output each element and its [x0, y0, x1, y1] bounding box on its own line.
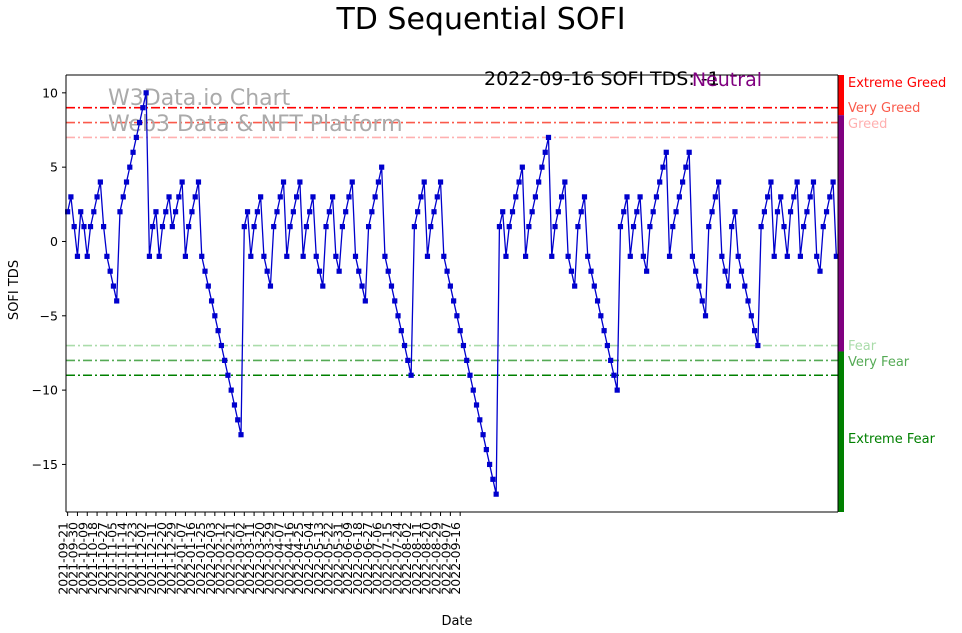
data-point-marker [804, 209, 809, 214]
data-point-marker [696, 283, 701, 288]
data-point-marker [559, 194, 564, 199]
data-point-marker [768, 179, 773, 184]
data-point-marker [824, 209, 829, 214]
data-point-marker [209, 298, 214, 303]
data-point-marker [539, 165, 544, 170]
data-point-marker [199, 254, 204, 259]
data-point-marker [719, 254, 724, 259]
data-point-marker [713, 194, 718, 199]
data-point-marker [245, 209, 250, 214]
data-point-marker [598, 313, 603, 318]
data-point-marker [726, 283, 731, 288]
data-point-marker [333, 254, 338, 259]
data-point-marker [356, 269, 361, 274]
data-point-marker [248, 254, 253, 259]
data-point-marker [379, 165, 384, 170]
data-point-marker [261, 254, 266, 259]
data-point-marker [752, 328, 757, 333]
data-point-marker [291, 209, 296, 214]
data-point-marker [647, 224, 652, 229]
data-point-marker [399, 328, 404, 333]
data-point-marker [660, 165, 665, 170]
data-point-marker [346, 194, 351, 199]
data-series-sofi-tds [65, 90, 839, 497]
data-point-marker [392, 298, 397, 303]
data-point-marker [814, 254, 819, 259]
data-point-marker [170, 224, 175, 229]
data-point-marker [484, 447, 489, 452]
data-point-marker [716, 179, 721, 184]
data-point-marker [530, 209, 535, 214]
data-point-marker [546, 135, 551, 140]
data-point-marker [562, 179, 567, 184]
data-point-marker [454, 313, 459, 318]
data-point-marker [785, 254, 790, 259]
neutral-bar [838, 115, 844, 351]
data-point-marker [464, 358, 469, 363]
x-axis-label: Date [441, 614, 472, 629]
data-point-marker [543, 150, 548, 155]
data-point-marker [307, 209, 312, 214]
data-point-marker [284, 254, 289, 259]
data-point-marker [552, 224, 557, 229]
data-point-marker [513, 194, 518, 199]
data-point-marker [144, 90, 149, 95]
data-point-marker [781, 224, 786, 229]
data-point-marker [742, 283, 747, 288]
data-point-marker [216, 328, 221, 333]
data-point-marker [507, 224, 512, 229]
data-point-marker [765, 194, 770, 199]
data-point-marker [431, 209, 436, 214]
data-point-marker [435, 194, 440, 199]
data-point-marker [739, 269, 744, 274]
data-point-marker [644, 269, 649, 274]
extreme-fear-bar [838, 351, 844, 512]
data-point-marker [366, 224, 371, 229]
data-point-marker [628, 254, 633, 259]
data-point-marker [693, 269, 698, 274]
y-tick-label: −10 [32, 383, 58, 398]
data-point-marker [657, 179, 662, 184]
data-point-marker [605, 343, 610, 348]
data-point-marker [624, 194, 629, 199]
data-point-marker [337, 269, 342, 274]
data-point-marker [709, 209, 714, 214]
data-point-marker [147, 254, 152, 259]
data-point-marker [373, 194, 378, 199]
data-point-marker [680, 179, 685, 184]
data-point-marker [795, 179, 800, 184]
y-axis-label: SOFI TDS [7, 260, 22, 320]
data-point-marker [287, 224, 292, 229]
data-point-marker [320, 283, 325, 288]
extreme-greed-bar [838, 75, 844, 115]
y-tick-label: 0 [50, 234, 58, 249]
data-point-marker [579, 209, 584, 214]
data-point-marker [409, 373, 414, 378]
data-point-marker [670, 224, 675, 229]
data-point-marker [425, 254, 430, 259]
data-point-marker [477, 417, 482, 422]
data-point-marker [251, 224, 256, 229]
zone-reference-lines [66, 108, 838, 376]
data-point-marker [487, 462, 492, 467]
data-point-marker [615, 388, 620, 393]
data-point-marker [700, 298, 705, 303]
data-point-marker [163, 209, 168, 214]
data-point-marker [193, 194, 198, 199]
data-point-marker [140, 105, 145, 110]
data-point-marker [830, 179, 835, 184]
data-point-marker [81, 224, 86, 229]
data-point-marker [618, 224, 623, 229]
data-point-marker [706, 224, 711, 229]
data-point-marker [673, 209, 678, 214]
data-point-marker [634, 209, 639, 214]
data-point-marker [775, 209, 780, 214]
data-point-marker [242, 224, 247, 229]
data-point-marker [438, 179, 443, 184]
data-point-marker [526, 224, 531, 229]
data-point-marker [595, 298, 600, 303]
data-point-marker [556, 209, 561, 214]
y-tick-label: 10 [42, 85, 58, 100]
data-point-marker [631, 224, 636, 229]
data-point-marker [235, 417, 240, 422]
watermark-line-2: Web3 Data & NFT Platform [108, 112, 403, 137]
data-point-marker [418, 194, 423, 199]
data-point-marker [474, 402, 479, 407]
data-point-marker [78, 209, 83, 214]
data-point-marker [641, 254, 646, 259]
zone-label-extreme-greed: Extreme Greed [848, 76, 946, 91]
data-point-marker [723, 269, 728, 274]
data-point-marker [549, 254, 554, 259]
x-tick-labels: 2021-09-212021-09-302021-10-092021-10-18… [56, 522, 464, 595]
data-point-marker [323, 224, 328, 229]
data-point-marker [732, 209, 737, 214]
data-point-marker [458, 328, 463, 333]
data-point-marker [301, 254, 306, 259]
data-point-marker [651, 209, 656, 214]
data-point-marker [117, 209, 122, 214]
data-point-marker [592, 283, 597, 288]
data-point-marker [808, 194, 813, 199]
data-point-marker [575, 224, 580, 229]
data-point-marker [294, 194, 299, 199]
data-point-marker [536, 179, 541, 184]
data-point-marker [516, 179, 521, 184]
data-point-marker [467, 373, 472, 378]
y-tick-label: −5 [40, 308, 58, 323]
data-point-marker [729, 224, 734, 229]
data-point-marker [490, 477, 495, 482]
data-point-marker [441, 254, 446, 259]
data-point-marker [304, 224, 309, 229]
data-point-marker [412, 224, 417, 229]
data-point-marker [157, 254, 162, 259]
data-point-marker [327, 209, 332, 214]
data-point-marker [85, 254, 90, 259]
data-point-marker [297, 179, 302, 184]
data-point-marker [451, 298, 456, 303]
data-point-marker [225, 373, 230, 378]
data-point-marker [762, 209, 767, 214]
data-point-marker [585, 254, 590, 259]
data-point-marker [206, 283, 211, 288]
data-point-marker [817, 269, 822, 274]
y-tick-label: −15 [32, 457, 58, 472]
data-point-marker [667, 254, 672, 259]
annotation-status: Neutral [692, 69, 762, 91]
data-point-marker [428, 224, 433, 229]
data-point-marker [788, 209, 793, 214]
data-point-marker [127, 165, 132, 170]
data-point-marker [150, 224, 155, 229]
data-point-marker [108, 269, 113, 274]
zone-label-very-fear: Very Fear [848, 355, 910, 370]
data-point-marker [310, 194, 315, 199]
data-point-marker [395, 313, 400, 318]
zone-labels: Extreme GreedVery GreedGreedFearVery Fea… [848, 76, 946, 447]
data-point-marker [340, 224, 345, 229]
y-tick-label: 5 [50, 160, 58, 175]
data-point-marker [510, 209, 515, 214]
data-point-marker [637, 194, 642, 199]
data-point-marker [104, 254, 109, 259]
data-point-marker [189, 209, 194, 214]
data-point-marker [520, 165, 525, 170]
data-point-marker [111, 283, 116, 288]
data-point-marker [94, 194, 99, 199]
x-tick-label: 2022-09-16 [448, 522, 463, 595]
data-point-marker [811, 179, 816, 184]
data-point-marker [363, 298, 368, 303]
data-point-marker [683, 165, 688, 170]
zone-label-extreme-fear: Extreme Fear [848, 432, 936, 447]
data-point-marker [415, 209, 420, 214]
watermark-line-1: W3Data.io Chart [108, 86, 291, 111]
data-point-marker [444, 269, 449, 274]
data-point-marker [749, 313, 754, 318]
data-point-marker [196, 179, 201, 184]
data-point-marker [271, 224, 276, 229]
data-point-marker [755, 343, 760, 348]
data-point-marker [821, 224, 826, 229]
data-point-marker [219, 343, 224, 348]
data-point-marker [827, 194, 832, 199]
chart-canvas: W3Data.io Chart Web3 Data & NFT Platform… [0, 0, 962, 633]
data-point-marker [265, 269, 270, 274]
data-point-marker [330, 194, 335, 199]
data-point-marker [566, 254, 571, 259]
data-point-marker [343, 209, 348, 214]
data-point-marker [533, 194, 538, 199]
data-point-marker [359, 283, 364, 288]
data-point-marker [278, 194, 283, 199]
data-point-marker [494, 492, 499, 497]
data-point-marker [268, 283, 273, 288]
data-point-marker [176, 194, 181, 199]
data-point-marker [772, 254, 777, 259]
sentiment-side-bars [838, 75, 844, 512]
data-point-marker [229, 388, 234, 393]
data-point-marker [582, 194, 587, 199]
data-point-marker [350, 179, 355, 184]
data-point-marker [386, 269, 391, 274]
data-point-marker [134, 135, 139, 140]
data-point-marker [232, 402, 237, 407]
data-point-marker [497, 224, 502, 229]
data-point-marker [369, 209, 374, 214]
data-point-marker [448, 283, 453, 288]
data-point-marker [238, 432, 243, 437]
data-point-marker [664, 150, 669, 155]
data-point-marker [180, 179, 185, 184]
watermark: W3Data.io Chart Web3 Data & NFT Platform [108, 86, 403, 137]
data-point-marker [98, 179, 103, 184]
data-point-marker [677, 194, 682, 199]
data-point-marker [798, 254, 803, 259]
y-tick-labels: 1050−5−10−15 [32, 85, 58, 472]
data-point-marker [183, 254, 188, 259]
data-point-marker [72, 224, 77, 229]
data-point-marker [124, 179, 129, 184]
data-point-marker [480, 432, 485, 437]
data-point-marker [353, 254, 358, 259]
data-point-marker [736, 254, 741, 259]
data-point-marker [422, 179, 427, 184]
zone-label-greed: Greed [848, 117, 887, 132]
data-point-marker [703, 313, 708, 318]
data-point-marker [376, 179, 381, 184]
series-line [68, 93, 837, 494]
data-point-marker [75, 254, 80, 259]
data-point-marker [91, 209, 96, 214]
data-point-marker [281, 179, 286, 184]
data-point-marker [314, 254, 319, 259]
annotation-value: 2022-09-16 SOFI TDS: -1 [484, 68, 720, 90]
chart-page: TD Sequential SOFI W3Data.io Chart Web3 … [0, 0, 962, 633]
data-point-marker [778, 194, 783, 199]
data-point-marker [389, 283, 394, 288]
data-point-marker [382, 254, 387, 259]
data-point-marker [130, 150, 135, 155]
data-point-marker [572, 283, 577, 288]
axes [62, 75, 838, 516]
data-point-marker [68, 194, 73, 199]
data-point-marker [687, 150, 692, 155]
data-point-marker [222, 358, 227, 363]
data-point-marker [255, 209, 260, 214]
data-point-marker [500, 209, 505, 214]
data-point-marker [88, 224, 93, 229]
data-point-marker [611, 373, 616, 378]
data-point-marker [621, 209, 626, 214]
data-point-marker [745, 298, 750, 303]
data-point-marker [153, 209, 158, 214]
data-point-marker [121, 194, 126, 199]
data-point-marker [503, 254, 508, 259]
data-point-marker [801, 224, 806, 229]
data-point-marker [186, 224, 191, 229]
data-point-marker [317, 269, 322, 274]
data-point-marker [602, 328, 607, 333]
data-point-marker [759, 224, 764, 229]
data-point-marker [258, 194, 263, 199]
data-point-marker [202, 269, 207, 274]
data-point-marker [461, 343, 466, 348]
data-point-marker [471, 388, 476, 393]
data-point-marker [569, 269, 574, 274]
data-point-marker [523, 254, 528, 259]
data-point-marker [212, 313, 217, 318]
data-point-marker [166, 194, 171, 199]
data-point-marker [173, 209, 178, 214]
data-point-marker [405, 358, 410, 363]
data-point-marker [137, 120, 142, 125]
data-point-marker [690, 254, 695, 259]
data-point-marker [114, 298, 119, 303]
data-point-marker [588, 269, 593, 274]
zone-label-fear: Fear [848, 339, 877, 354]
data-point-marker [101, 224, 106, 229]
data-point-marker [274, 209, 279, 214]
data-point-marker [608, 358, 613, 363]
data-point-marker [654, 194, 659, 199]
data-point-marker [402, 343, 407, 348]
data-point-marker [160, 224, 165, 229]
zone-label-very-greed: Very Greed [848, 101, 920, 116]
data-point-marker [791, 194, 796, 199]
